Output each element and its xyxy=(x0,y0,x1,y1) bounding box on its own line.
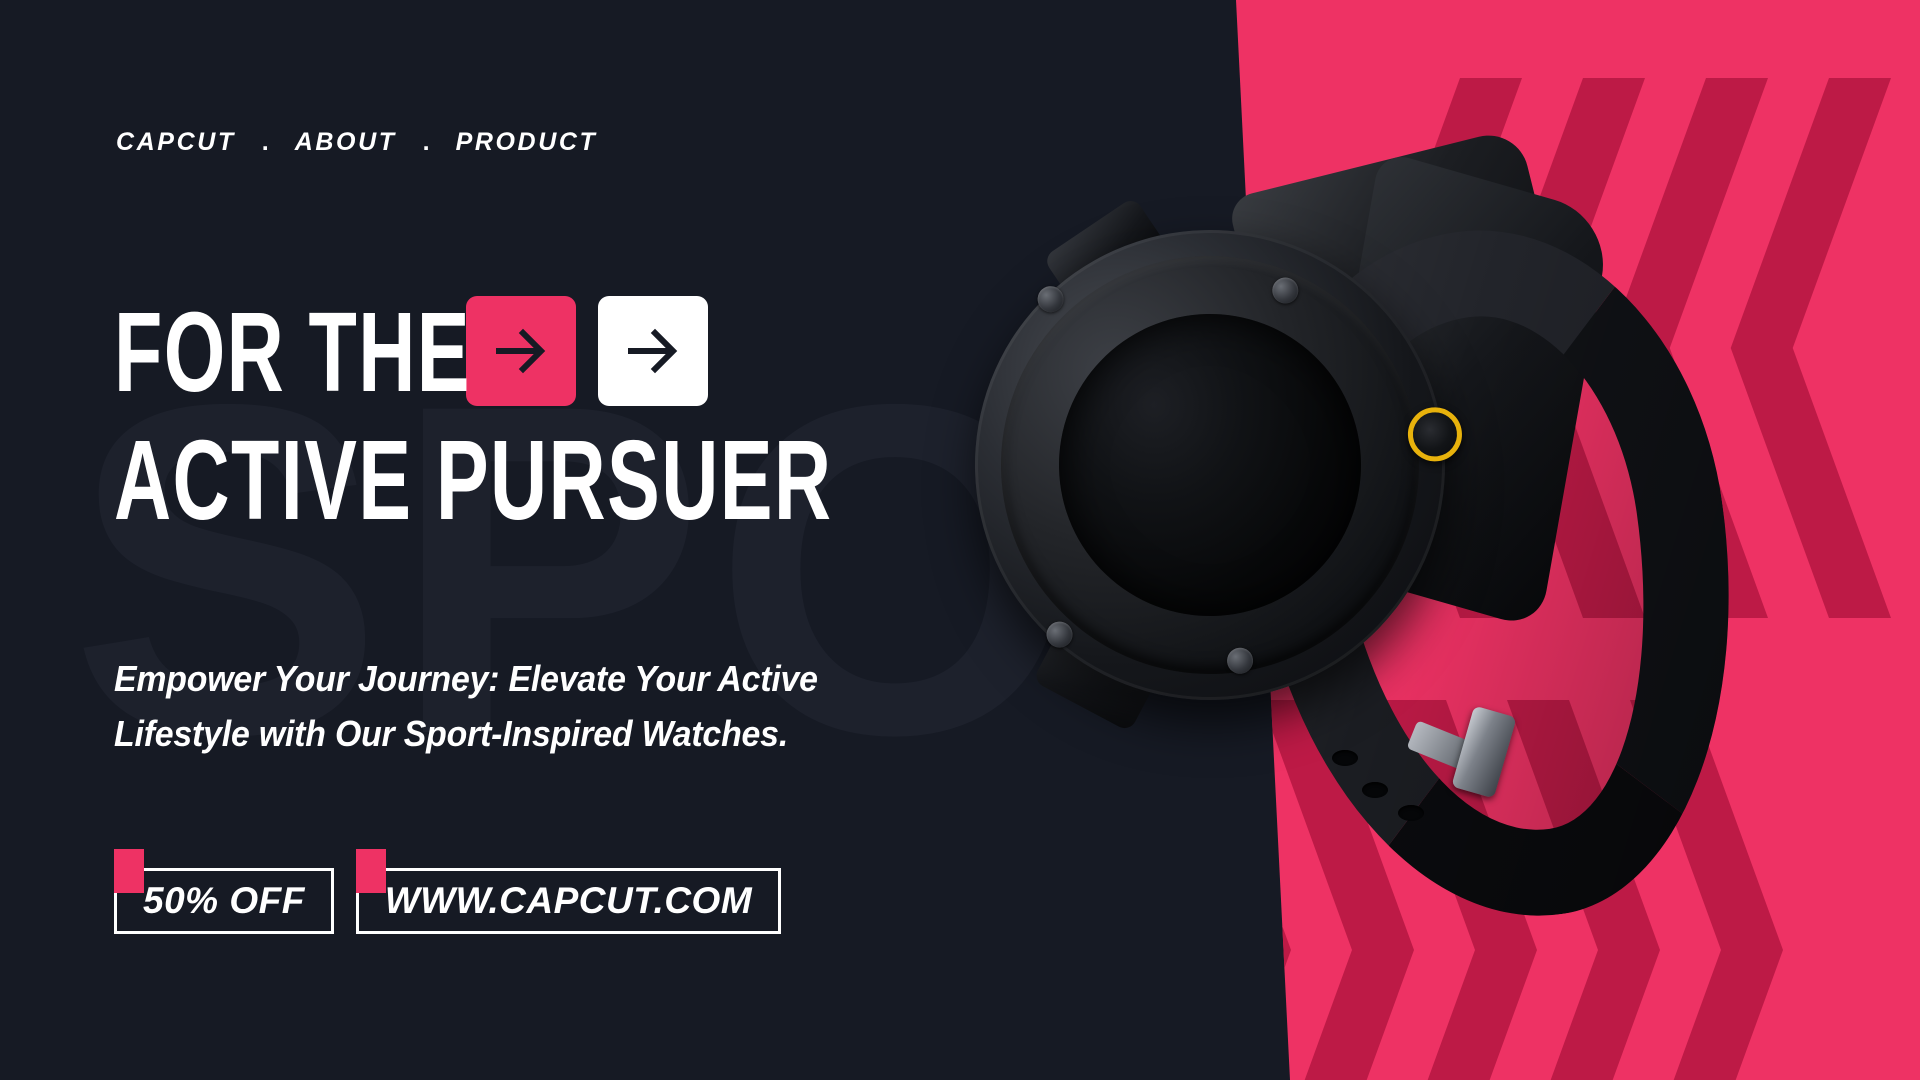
product-image-smartwatch xyxy=(1010,150,1830,950)
headline-row-one: FOR THE xyxy=(114,300,1140,406)
website-badge[interactable]: WWW.CAPCUT.COM xyxy=(356,868,781,934)
strap-hole xyxy=(1362,782,1388,798)
discount-badge[interactable]: 50% OFF xyxy=(114,868,334,934)
subtitle-line-1: Empower Your Journey: Elevate Your Activ… xyxy=(114,652,818,707)
nav-item-capcut[interactable]: CAPCUT xyxy=(116,128,236,157)
headline-line-2: ACTIVE PURSUER xyxy=(114,428,832,533)
arrow-right-icon xyxy=(621,319,685,383)
chevron-bar xyxy=(1138,950,1291,1080)
strap-hole xyxy=(1332,750,1358,766)
headline-line-1: FOR THE xyxy=(114,300,471,405)
promo-banner: SPO CAPCUT . ABOUT . PRODUCT xyxy=(0,0,1920,1080)
arrow-right-icon xyxy=(489,319,553,383)
nav-separator: . xyxy=(236,128,295,157)
nav-separator: . xyxy=(397,128,456,157)
hero-subtitle: Empower Your Journey: Elevate Your Activ… xyxy=(114,652,818,761)
top-navigation: CAPCUT . ABOUT . PRODUCT xyxy=(116,128,597,157)
arrow-button-secondary[interactable] xyxy=(598,296,708,406)
hero-headline-block: FOR THE ACTIVE xyxy=(114,300,1140,533)
bezel-screw xyxy=(1045,620,1074,649)
arrow-button-group xyxy=(466,296,708,406)
badge-corner-tab xyxy=(356,849,386,893)
badge-corner-tab xyxy=(114,849,144,893)
strap-hole xyxy=(1398,805,1424,821)
nav-item-about[interactable]: ABOUT xyxy=(295,128,397,157)
nav-item-product[interactable]: PRODUCT xyxy=(456,128,598,157)
cta-badge-row: 50% OFF WWW.CAPCUT.COM xyxy=(114,868,781,934)
discount-badge-label: 50% OFF xyxy=(143,880,305,922)
arrow-button-primary[interactable] xyxy=(466,296,576,406)
subtitle-line-2: Lifestyle with Our Sport-Inspired Watche… xyxy=(114,707,818,762)
website-badge-label: WWW.CAPCUT.COM xyxy=(385,880,752,922)
